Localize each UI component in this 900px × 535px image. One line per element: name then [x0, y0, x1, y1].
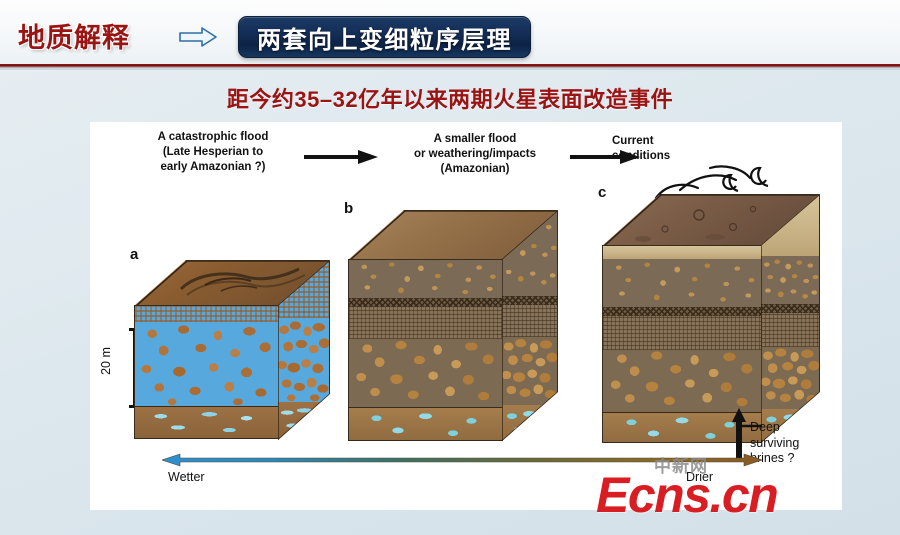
layer-c-dust-cap: [603, 246, 761, 259]
layer-c-mid-fine: [603, 316, 761, 350]
slide-canvas: 地质解释 两套向上变细粒序层理 距今约35–32亿年以来两期火星表面改造事件 A…: [0, 0, 900, 535]
page-title: 地质解释: [18, 16, 130, 55]
drier-label: Drier: [686, 470, 713, 484]
wetter-drier-gradient-arrow: [162, 450, 762, 490]
wetter-label: Wetter: [168, 470, 205, 484]
layer-c-contact: [603, 307, 761, 316]
figure-panel: A catastrophic flood (Late Hesperian to …: [90, 122, 842, 510]
layer-a-basal: [135, 406, 278, 439]
layer-b-contact: [349, 298, 502, 307]
flow-arrow-right-icon: [570, 150, 640, 164]
block-diagram-a: [134, 260, 330, 440]
subtitle: 距今约35–32亿年以来两期火星表面改造事件: [0, 82, 900, 114]
layer-b-basal: [349, 407, 502, 441]
layer-b-coarse: [349, 339, 502, 407]
highlight-badge-label: 两套向上变细粒序层理: [257, 20, 512, 55]
block-diagram-b: [348, 210, 558, 442]
layer-b-mid-fine: [349, 307, 502, 339]
layer-b-upper-fine: [349, 260, 502, 298]
flow-arrow-right-icon: [304, 150, 378, 164]
caption-stage-b: A smaller flood or weathering/impacts (A…: [380, 132, 570, 178]
block-diagram-c: [602, 194, 820, 444]
scale-bar-label: 20 m: [99, 347, 113, 375]
layer-c-upper-fine: [603, 259, 761, 307]
header-divider-secondary: [0, 68, 900, 70]
block-b-front-face: [348, 259, 503, 441]
highlight-badge[interactable]: 两套向上变细粒序层理: [238, 16, 531, 58]
layer-c-coarse: [603, 350, 761, 412]
caption-stage-a: A catastrophic flood (Late Hesperian to …: [118, 130, 308, 176]
right-arrow-outline-icon: [178, 26, 218, 48]
block-a-front-face: [134, 305, 279, 439]
layer-a-fine: [135, 306, 278, 322]
layer-a-coarse: [135, 322, 278, 406]
slide-header: 地质解释 两套向上变细粒序层理: [0, 0, 900, 66]
